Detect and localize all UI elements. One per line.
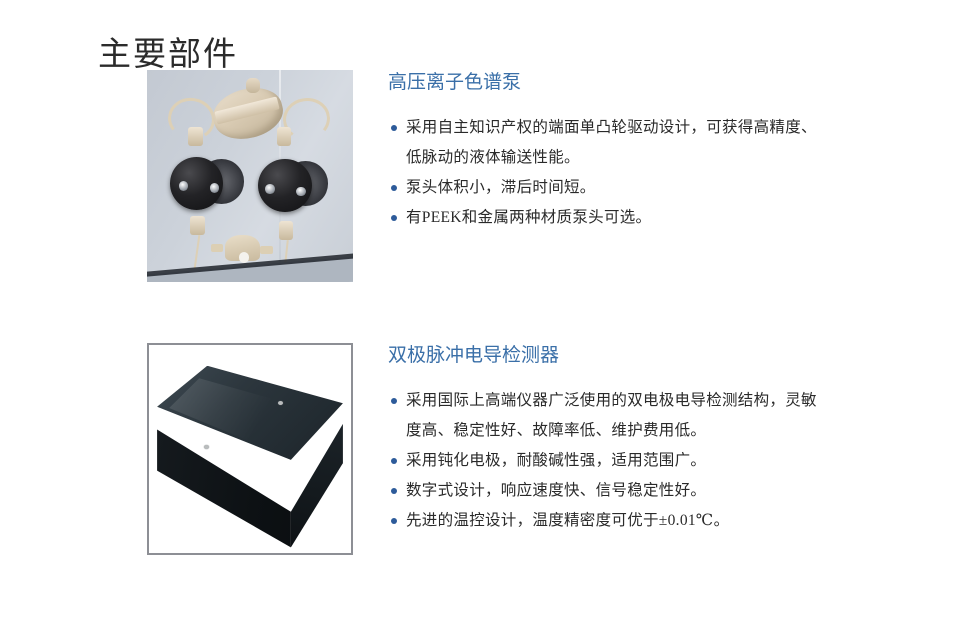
- list-item: 采用国际上高端仪器广泛使用的双电极电导检测结构，灵敏 度高、稳定性好、故障率低、…: [388, 386, 858, 446]
- pump-fitting-bottom-right: [279, 221, 293, 240]
- pump-feature-list: 采用自主知识产权的端面单凸轮驱动设计，可获得高精度、 低脉动的液体输送性能。 泵…: [388, 113, 858, 233]
- bullet-text-line1: 泵头体积小，滞后时间短。: [406, 179, 596, 196]
- list-item: 采用钝化电极，耐酸碱性强，适用范围广。: [388, 446, 858, 476]
- list-item: 数字式设计，响应速度快、信号稳定性好。: [388, 476, 858, 506]
- pump-fitting-bottom-left: [190, 216, 204, 235]
- list-item: 采用自主知识产权的端面单凸轮驱动设计，可获得高精度、 低脉动的液体输送性能。: [388, 113, 858, 173]
- high-pressure-ion-chromatography-pump-photo: [147, 70, 353, 282]
- list-item: 泵头体积小，滞后时间短。: [388, 173, 858, 203]
- pump-figure-inner: [147, 70, 353, 282]
- bullet-text-line1: 采用国际上高端仪器广泛使用的双电极电导检测结构，灵敏: [406, 392, 817, 409]
- detector-feature-list: 采用国际上高端仪器广泛使用的双电极电导检测结构，灵敏 度高、稳定性好、故障率低、…: [388, 386, 858, 536]
- detector-figure: [147, 343, 353, 555]
- pump-tube-left: [194, 235, 201, 269]
- bullet-text-line1: 先进的温控设计，温度精密度可优于±0.01℃。: [406, 512, 729, 529]
- bullet-text-line2: 度高、稳定性好、故障率低、维护费用低。: [406, 416, 858, 446]
- bullet-text-line2: 低脉动的液体输送性能。: [406, 143, 858, 173]
- bipolar-pulse-conductivity-detector-photo: [149, 345, 351, 553]
- section-heading-detector: 双极脉冲电导检测器: [388, 343, 858, 369]
- bullet-text-line1: 有PEEK和金属两种材质泵头可选。: [406, 209, 651, 226]
- list-item: 先进的温控设计，温度精密度可优于±0.01℃。: [388, 506, 858, 536]
- pump-text-column: 高压离子色谱泵 采用自主知识产权的端面单凸轮驱动设计，可获得高精度、 低脉动的液…: [388, 70, 858, 233]
- pump-fitting-top-right: [277, 127, 291, 146]
- detector-screw-2: [204, 445, 209, 449]
- detector-figure-inner: [149, 345, 351, 553]
- page-root: 主要部件: [0, 0, 980, 635]
- pump-fitting-top-left: [188, 127, 202, 146]
- bullet-text-line1: 数字式设计，响应速度快、信号稳定性好。: [406, 482, 706, 499]
- section-heading-pump: 高压离子色谱泵: [388, 70, 858, 96]
- bench-beige-part-dot: [239, 252, 249, 263]
- detector-text-column: 双极脉冲电导检测器 采用国际上高端仪器广泛使用的双电极电导检测结构，灵敏 度高、…: [388, 343, 858, 536]
- bench-part-pin-left: [211, 244, 223, 252]
- pump-screw-4: [296, 187, 305, 197]
- pump-figure: [147, 70, 353, 282]
- bullet-text-line1: 采用自主知识产权的端面单凸轮驱动设计，可获得高精度、: [406, 119, 817, 136]
- list-item: 有PEEK和金属两种材质泵头可选。: [388, 203, 858, 233]
- manifold-knob: [246, 78, 260, 93]
- bench-part-pin-right: [260, 246, 272, 254]
- bullet-text-line1: 采用钝化电极，耐酸碱性强，适用范围广。: [406, 452, 706, 469]
